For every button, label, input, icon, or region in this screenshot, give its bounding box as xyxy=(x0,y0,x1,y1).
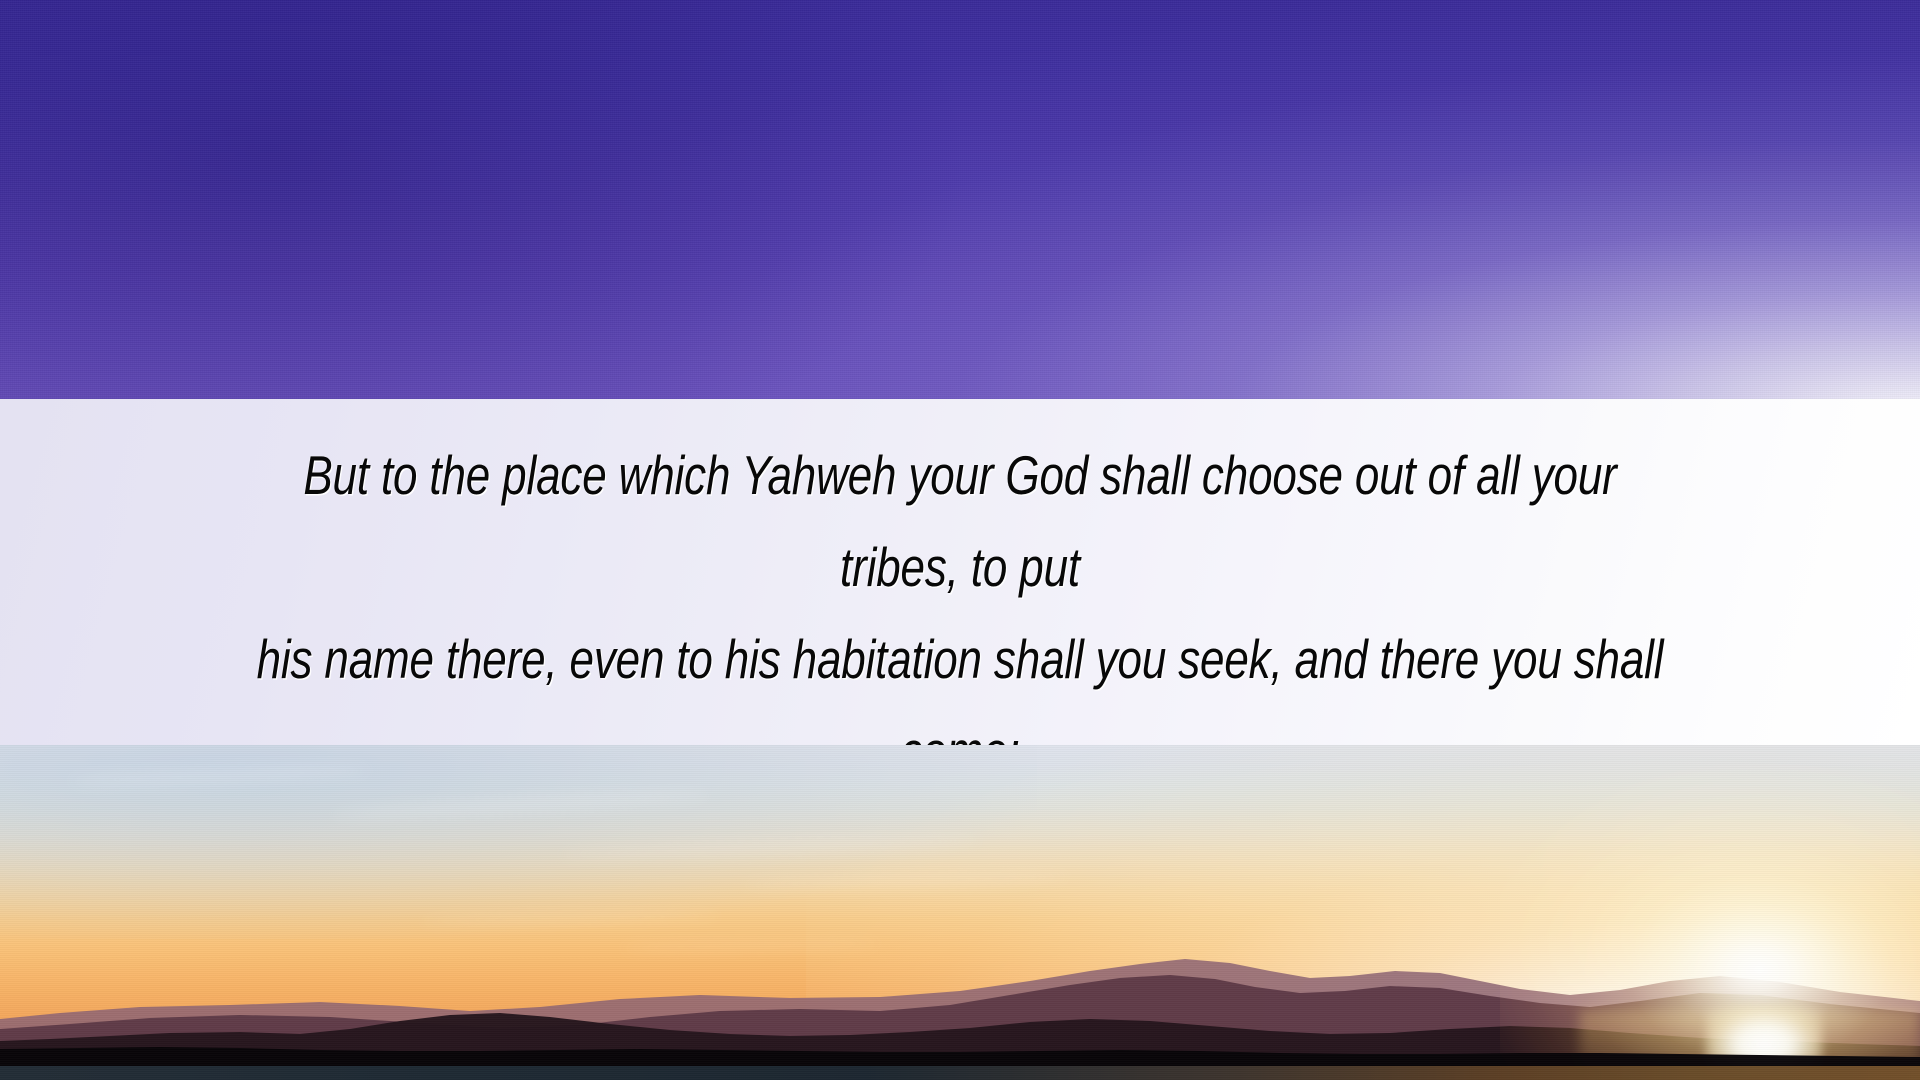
foreground-forest-silhouette xyxy=(0,745,1920,1080)
sun-core xyxy=(1706,1006,1822,1076)
cloud-wisp xyxy=(330,787,710,823)
mountain-ridge-mid xyxy=(0,745,1920,1080)
verse-text: But to the place which Yahweh your God s… xyxy=(240,429,1680,797)
cloud-wisp xyxy=(420,910,720,926)
landscape-cool-sky-wash xyxy=(0,745,1037,939)
landscape-film-grain xyxy=(0,745,1920,1080)
cloud-wisp xyxy=(70,764,370,788)
cloud-wisp xyxy=(620,939,880,954)
mountain-ridge-far xyxy=(0,745,1920,1080)
cloud-wisp xyxy=(560,834,980,862)
lake-water-line xyxy=(0,1066,1920,1080)
sky-film-grain xyxy=(0,0,1920,399)
sun-glow xyxy=(1500,765,1920,1080)
verse-line: But to the place which Yahweh your God s… xyxy=(240,429,1680,613)
landscape-warm-sky-wash xyxy=(806,745,1920,1080)
sky-left-shade xyxy=(0,0,960,399)
cloud-wisp xyxy=(740,871,1070,892)
sun-ray-spread xyxy=(1580,1010,1920,1080)
landscape-panel xyxy=(0,745,1920,1080)
sky-gradient-panel xyxy=(0,0,1920,399)
wallpaper-canvas: But to the place which Yahweh your God s… xyxy=(0,0,1920,1080)
verse-band: But to the place which Yahweh your God s… xyxy=(0,399,1920,745)
mountain-ridge-near xyxy=(0,745,1920,1080)
